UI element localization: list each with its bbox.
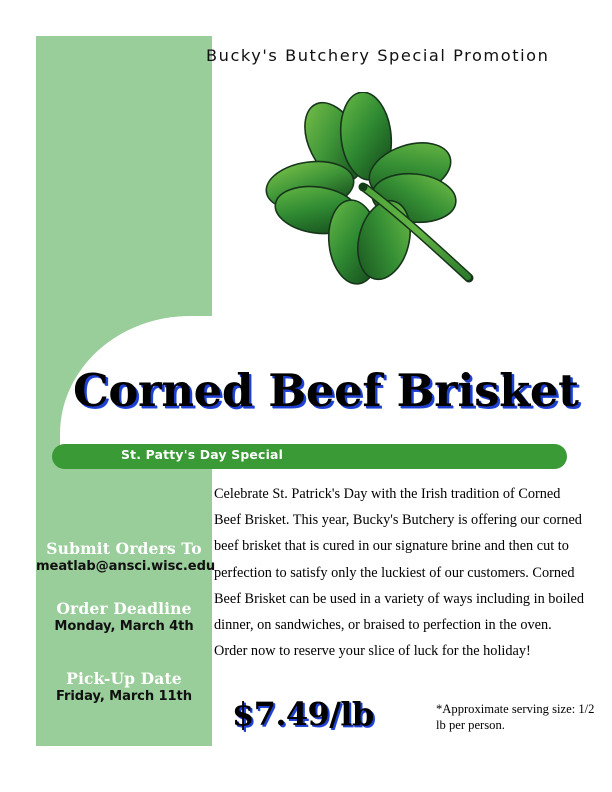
special-banner-label: St. Patty's Day Special	[121, 447, 421, 462]
four-leaf-clover-icon	[262, 92, 482, 302]
sidebar-block-pickup-date: Pick-Up Date Friday, March 11th	[36, 669, 212, 706]
order-deadline-date: Monday, March 4th	[36, 618, 212, 636]
sidebar-block-order-deadline: Order Deadline Monday, March 4th	[36, 599, 212, 636]
promo-description: Celebrate St. Patrick's Day with the Iri…	[214, 481, 586, 664]
sidebar-block-submit-orders: Submit Orders To meatlab@ansci.wisc.edu	[36, 539, 212, 576]
submit-orders-heading: Submit Orders To	[36, 539, 212, 558]
pickup-date-heading: Pick-Up Date	[36, 669, 212, 688]
flyer-page: Bucky's Butchery Special Promotion	[0, 0, 612, 792]
price-label: $7.49/lb	[232, 698, 374, 730]
submit-orders-email[interactable]: meatlab@ansci.wisc.edu	[36, 558, 212, 576]
page-header-title: Bucky's Butchery Special Promotion	[206, 46, 586, 65]
order-deadline-heading: Order Deadline	[36, 599, 212, 618]
pickup-date-value: Friday, March 11th	[36, 688, 212, 706]
page-title: Corned Beef Brisket	[73, 368, 593, 413]
serving-size-note: *Approximate serving size: 1/2 lb per pe…	[436, 702, 596, 733]
